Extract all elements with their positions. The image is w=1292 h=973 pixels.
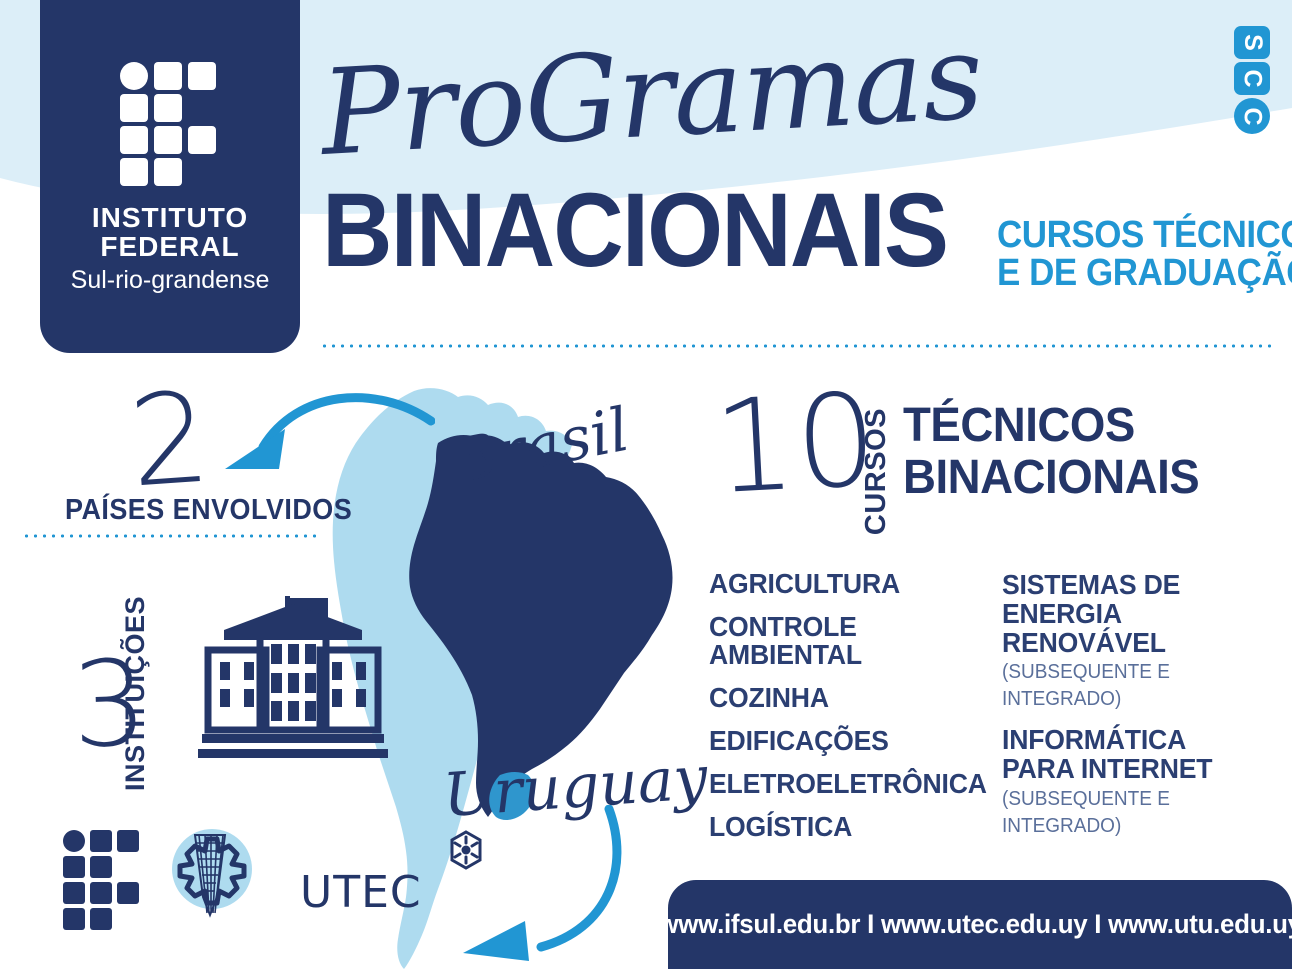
ccs-logo: S C C <box>1234 26 1276 137</box>
course-item: ELETROELETRÔNICA <box>709 770 975 798</box>
utec-gear-logo <box>155 817 265 922</box>
courses-rotated-label: CURSOS <box>860 408 893 535</box>
course-item: AGRICULTURA <box>709 570 975 598</box>
ifsul-grid-logo <box>63 830 145 908</box>
courses-heading-line-2: BINACIONAIS <box>903 452 1199 504</box>
curved-arrow-to-brasil <box>205 385 435 500</box>
header-dotted-divider <box>320 344 1272 348</box>
paises-dotted-divider <box>22 534 322 538</box>
courses-number: 10 <box>711 377 880 513</box>
countries-number: 2 <box>126 375 214 505</box>
subtitle-line-2: E DE GRADUAÇÃO <box>997 254 1292 292</box>
institution-building-icon <box>198 588 388 768</box>
course-item: COZINHA <box>709 684 975 712</box>
course-list-right: SISTEMAS DE ENERGIA RENOVÁVEL (SUBSEQUEN… <box>1002 570 1277 852</box>
ccs-glyph-s: S <box>1240 34 1265 51</box>
badge-line-federal: FEDERAL <box>100 232 239 261</box>
course-note: (SUBSEQUENTE E INTEGRADO) <box>1002 659 1206 713</box>
course-item: EDIFICAÇÕES <box>709 727 975 755</box>
course-item: SISTEMAS DE ENERGIA RENOVÁVEL <box>1002 570 1263 657</box>
title-subtitle: CURSOS TÉCNICOS E DE GRADUAÇÃO <box>997 216 1292 292</box>
courses-heading: TÉCNICOS BINACIONAIS <box>903 400 1199 504</box>
ccs-glyph-c1: C <box>1240 69 1265 87</box>
course-item: CONTROLE AMBIENTAL <box>709 613 975 669</box>
if-grid-logo <box>120 62 220 182</box>
ccs-letter-c2: C <box>1234 98 1270 134</box>
courses-heading-line-1: TÉCNICOS <box>903 400 1199 452</box>
ccs-glyph-c2: C <box>1240 107 1265 125</box>
subtitle-line-1: CURSOS TÉCNICOS <box>997 216 1292 254</box>
ccs-letter-c1: C <box>1234 62 1270 95</box>
infographic-canvas: INSTITUTO FEDERAL Sul-rio-grandense ProG… <box>0 0 1292 969</box>
institutions-label: INSTITUIÇÕES <box>120 596 151 791</box>
course-list-left: AGRICULTURA CONTROLE AMBIENTAL COZINHA E… <box>709 570 989 856</box>
ccs-letter-s: S <box>1234 26 1270 59</box>
badge-line-instituto: INSTITUTO <box>92 204 248 232</box>
footer-urls[interactable]: www.ifsul.edu.br I www.utec.edu.uy I www… <box>658 909 1292 940</box>
curved-arrow-to-uruguay <box>455 805 655 970</box>
ifsul-badge: INSTITUTO FEDERAL Sul-rio-grandense <box>40 0 300 353</box>
utec-label: UTEC <box>300 867 422 918</box>
main-title-binacionais: BINACIONAIS <box>322 178 947 283</box>
course-note: (SUBSEQUENTE E INTEGRADO) <box>1002 786 1206 840</box>
footer-urls-bar: www.ifsul.edu.br I www.utec.edu.uy I www… <box>668 880 1292 969</box>
course-item: LOGÍSTICA <box>709 813 975 841</box>
course-item: INFORMÁTICA PARA INTERNET <box>1002 725 1263 783</box>
badge-line-sul: Sul-rio-grandense <box>71 266 270 295</box>
